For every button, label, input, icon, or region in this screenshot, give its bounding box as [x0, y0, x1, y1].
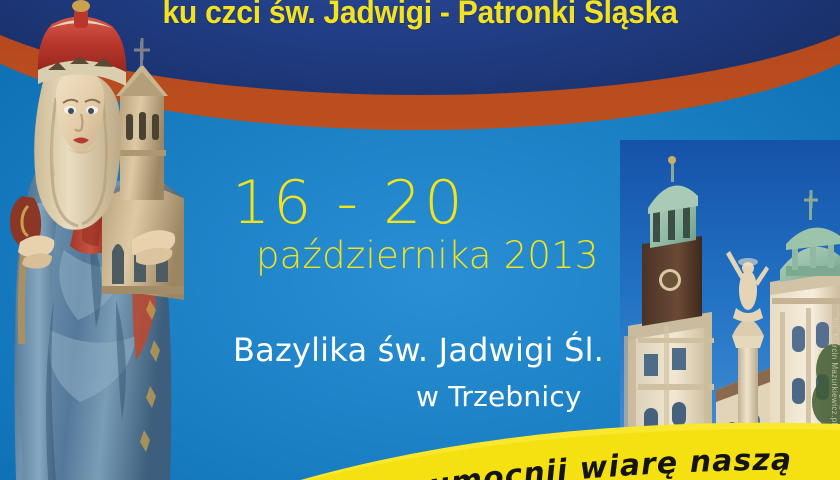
event-date-range: 16 - 20	[232, 173, 466, 233]
poster-canvas: ku czci św. Jadwigi - Patronki Śląska	[0, 0, 840, 480]
yellow-banner	[0, 396, 840, 480]
venue-name: Bazylika św. Jadwigi Śl.	[233, 334, 604, 366]
event-month-year: października 2013	[256, 237, 599, 274]
photo-credit: fot. Marcin Mazurkiewicz.pl	[830, 318, 839, 425]
